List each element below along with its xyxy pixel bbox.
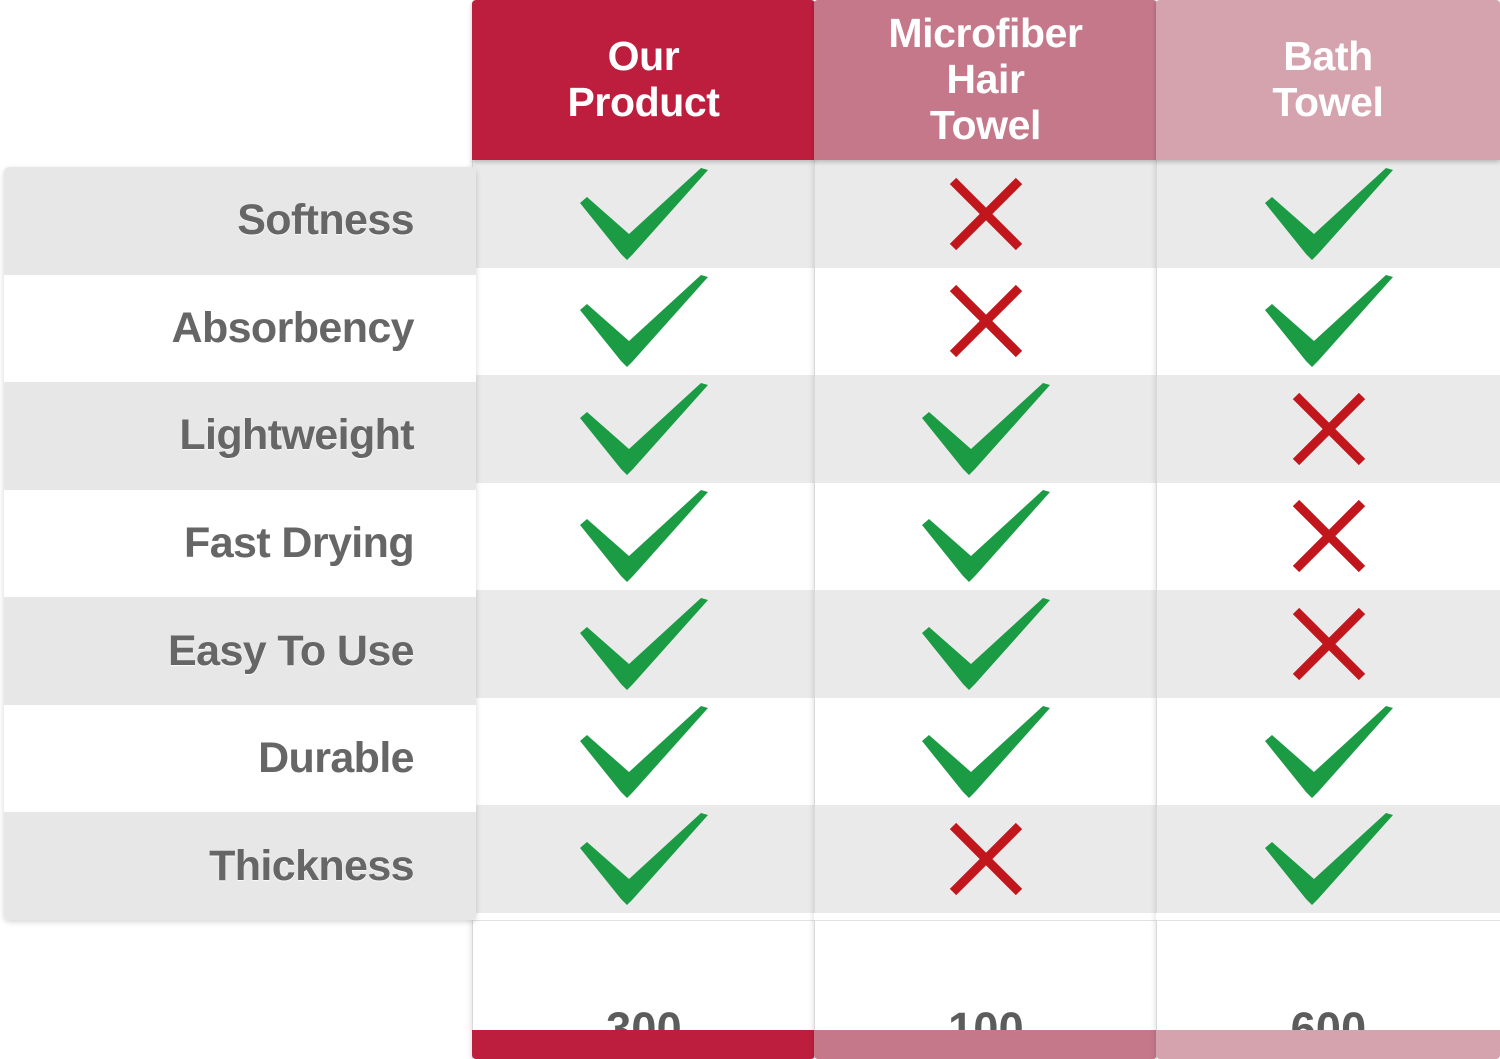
cell-our-product-fast-drying (472, 483, 815, 591)
column-body-our-product: 300GSM (472, 160, 815, 1059)
column-header-our-product: Our Product (472, 0, 815, 160)
cell-our-product-durable (472, 698, 815, 806)
cell-our-product-thickness (472, 805, 815, 913)
check-icon (919, 706, 1053, 798)
cell-bath-towel-fast-drying (1156, 483, 1500, 591)
cross-icon (1290, 497, 1368, 575)
feature-label-row: Softness (4, 167, 476, 275)
column-header-microfiber-hair-towel: Microfiber Hair Towel (814, 0, 1157, 160)
cross-icon (947, 282, 1025, 360)
feature-label-row: Lightweight (4, 382, 476, 490)
check-icon (1262, 706, 1396, 798)
check-icon (577, 598, 711, 690)
column-header-label: Bath Towel (1272, 34, 1383, 126)
cell-bath-towel-lightweight (1156, 375, 1500, 483)
cross-icon (1290, 390, 1368, 468)
column-footer-bar-bath-towel (1156, 1030, 1500, 1059)
cross-icon (947, 820, 1025, 898)
check-icon (577, 383, 711, 475)
cell-microfiber-hair-towel-absorbency (814, 268, 1157, 376)
column-header-label: Our Product (567, 34, 719, 126)
cell-microfiber-hair-towel-softness (814, 160, 1157, 268)
check-icon (919, 490, 1053, 582)
cell-our-product-absorbency (472, 268, 815, 376)
check-icon (1262, 813, 1396, 905)
cross-icon (947, 175, 1025, 253)
check-icon (577, 168, 711, 260)
cell-microfiber-hair-towel-durable (814, 698, 1157, 806)
cell-microfiber-hair-towel-lightweight (814, 375, 1157, 483)
check-icon (919, 383, 1053, 475)
cell-our-product-easy-to-use (472, 590, 815, 698)
feature-label-row: Thickness (4, 812, 476, 920)
column-our-product: Our Product300GSM (472, 0, 815, 1059)
feature-label-row: Absorbency (4, 275, 476, 383)
cross-icon (1290, 605, 1368, 683)
check-icon (577, 490, 711, 582)
feature-label-row: Easy To Use (4, 597, 476, 705)
cell-microfiber-hair-towel-fast-drying (814, 483, 1157, 591)
feature-label: Lightweight (179, 411, 414, 460)
feature-label-row: Fast Drying (4, 490, 476, 598)
feature-label: Durable (258, 734, 414, 783)
feature-label: Thickness (209, 842, 414, 891)
check-icon (1262, 168, 1396, 260)
check-icon (577, 813, 711, 905)
cell-bath-towel-absorbency (1156, 268, 1500, 376)
cell-microfiber-hair-towel-easy-to-use (814, 590, 1157, 698)
feature-label: Easy To Use (168, 627, 414, 676)
cell-bath-towel-easy-to-use (1156, 590, 1500, 698)
feature-label: Fast Drying (184, 519, 414, 568)
column-header-bath-towel: Bath Towel (1156, 0, 1500, 160)
column-microfiber-hair-towel: Microfiber Hair Towel100GSM (814, 0, 1157, 1059)
column-footer-bar-our-product (472, 1030, 815, 1059)
cell-our-product-lightweight (472, 375, 815, 483)
cell-bath-towel-durable (1156, 698, 1500, 806)
cell-our-product-softness (472, 160, 815, 268)
comparison-table: SoftnessAbsorbencyLightweightFast Drying… (0, 0, 1500, 1059)
feature-label: Absorbency (171, 304, 414, 353)
feature-label: Softness (237, 196, 414, 245)
column-bath-towel: Bath Towel600GSM (1156, 0, 1500, 1059)
check-icon (919, 598, 1053, 690)
cell-microfiber-hair-towel-thickness (814, 805, 1157, 913)
check-icon (577, 706, 711, 798)
cell-bath-towel-thickness (1156, 805, 1500, 913)
column-body-bath-towel: 600GSM (1156, 160, 1500, 1059)
column-footer-bar-microfiber-hair-towel (814, 1030, 1157, 1059)
cell-bath-towel-softness (1156, 160, 1500, 268)
feature-label-row: Durable (4, 705, 476, 813)
column-body-microfiber-hair-towel: 100GSM (814, 160, 1157, 1059)
column-header-label: Microfiber Hair Towel (888, 11, 1082, 149)
check-icon (1262, 275, 1396, 367)
check-icon (577, 275, 711, 367)
feature-label-panel: SoftnessAbsorbencyLightweightFast Drying… (4, 167, 476, 920)
